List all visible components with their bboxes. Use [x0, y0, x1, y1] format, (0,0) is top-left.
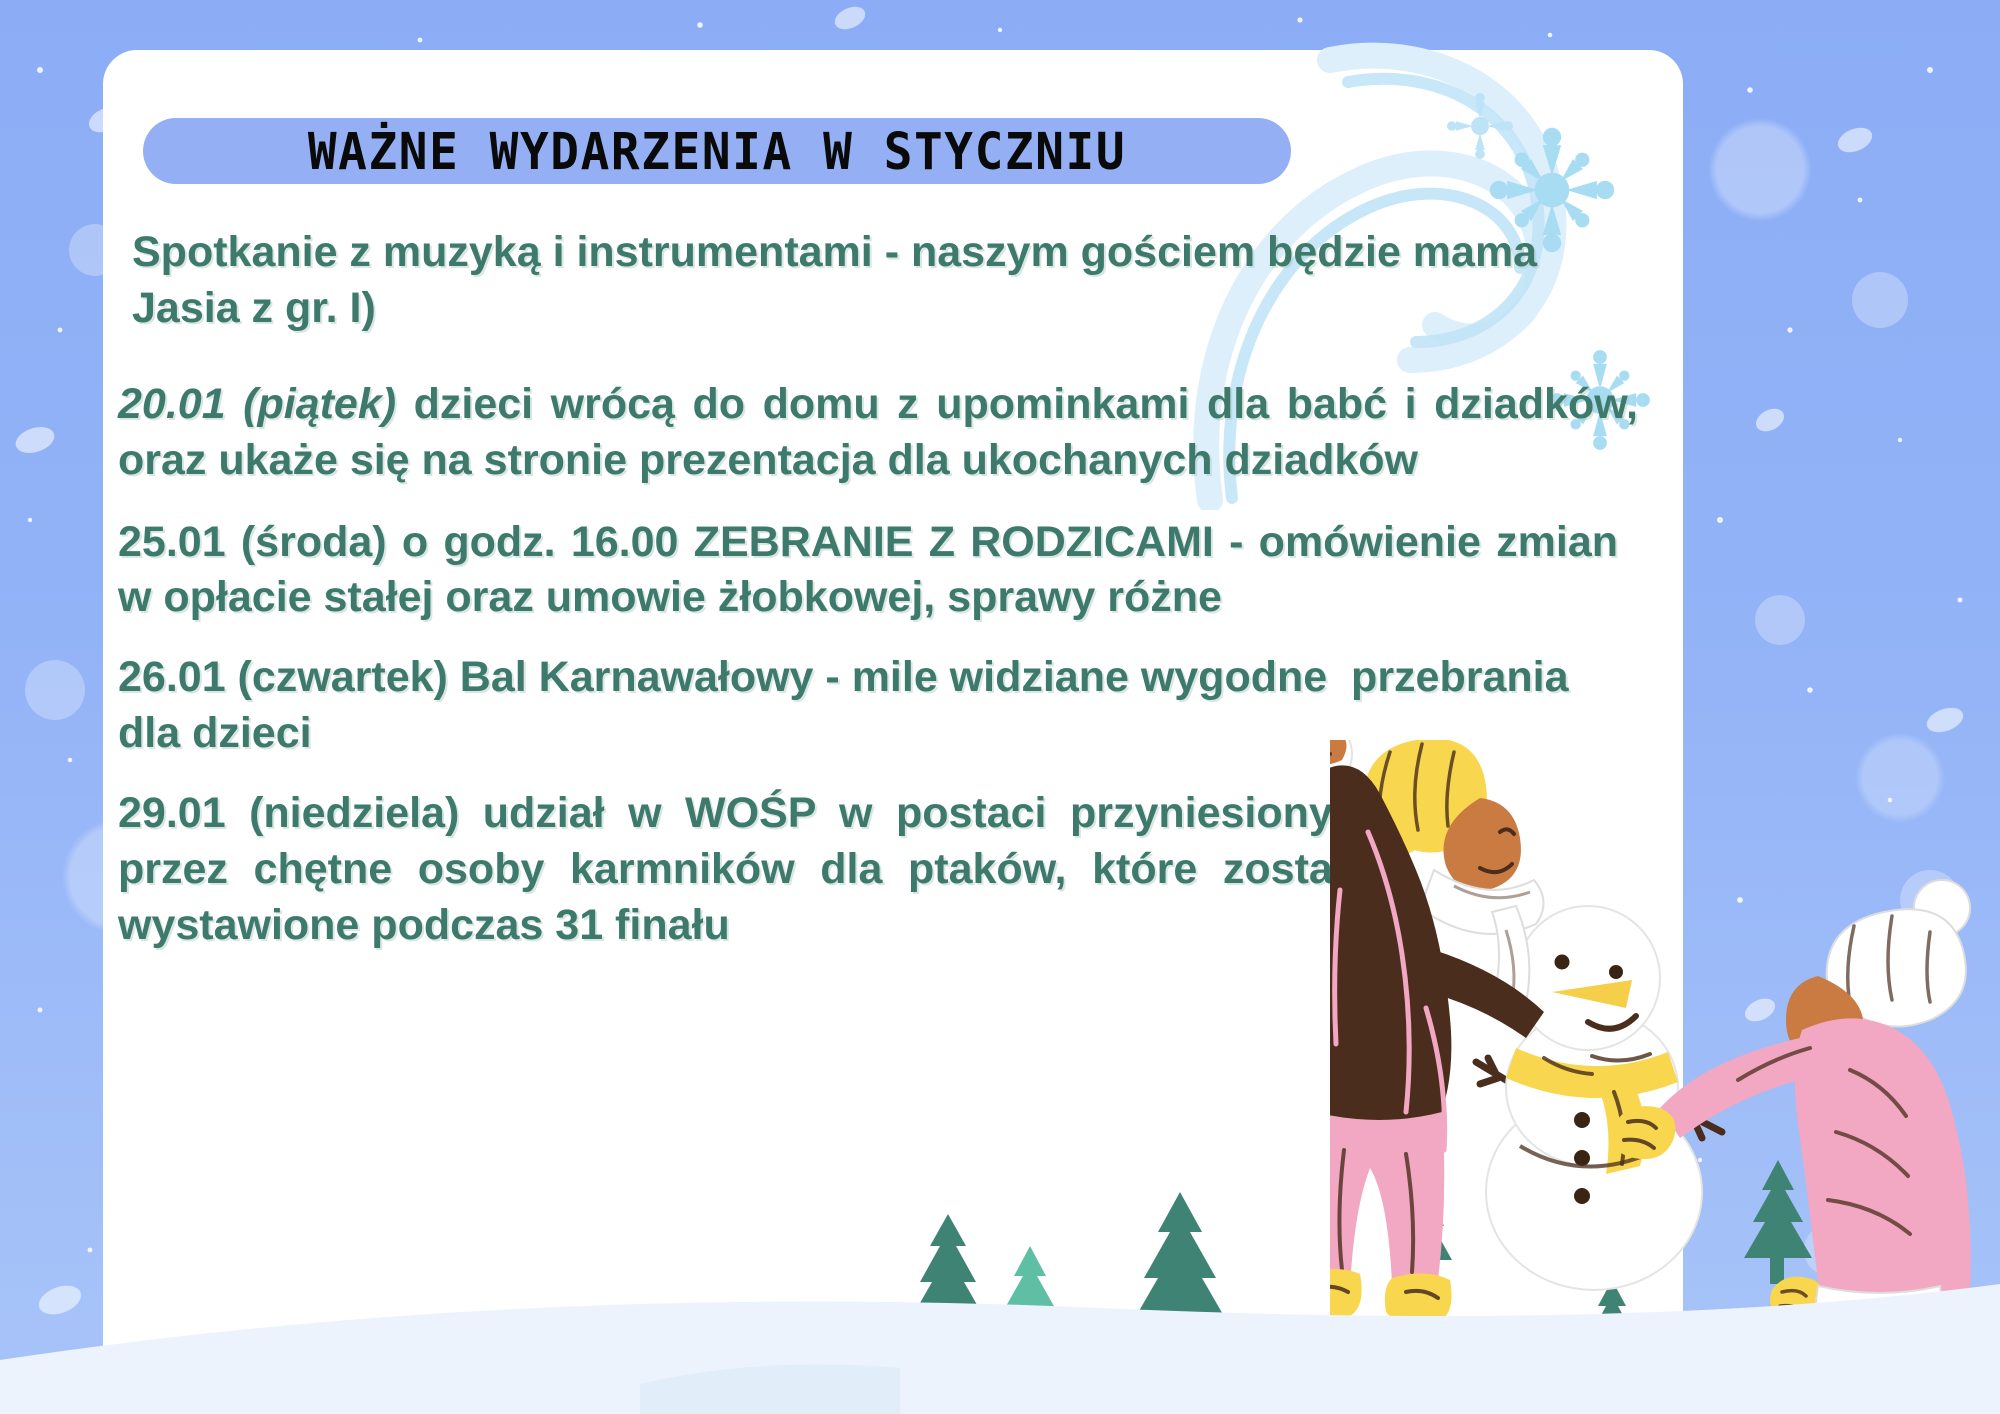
events-list: Spotkanie z muzyką i instrumentami - nas… — [118, 225, 1648, 954]
event-20-01-date: 20.01 (piątek) — [118, 380, 396, 428]
paragraph-lead: Spotkanie z muzyką i instrumentami - nas… — [132, 225, 1652, 337]
poster-stage: WAŻNE WYDARZENIA W STYCZNIU Spotkanie z … — [0, 0, 2000, 1414]
page-title: WAŻNE WYDARZENIA W STYCZNIU — [109, 114, 1326, 188]
paragraph-event-20-01: 20.01 (piątek) dzieci wrócą do domu z up… — [118, 377, 1638, 489]
paragraph-event-25-01: 25.01 (środa) o godz. 16.00 ZEBRANIE Z R… — [118, 515, 1618, 627]
paragraph-event-29-01: 29.01 (niedziela) udział w WOŚP w postac… — [118, 786, 1383, 954]
paragraph-event-26-01: 26.01 (czwartek) Bal Karnawałowy - mile … — [118, 650, 1598, 762]
